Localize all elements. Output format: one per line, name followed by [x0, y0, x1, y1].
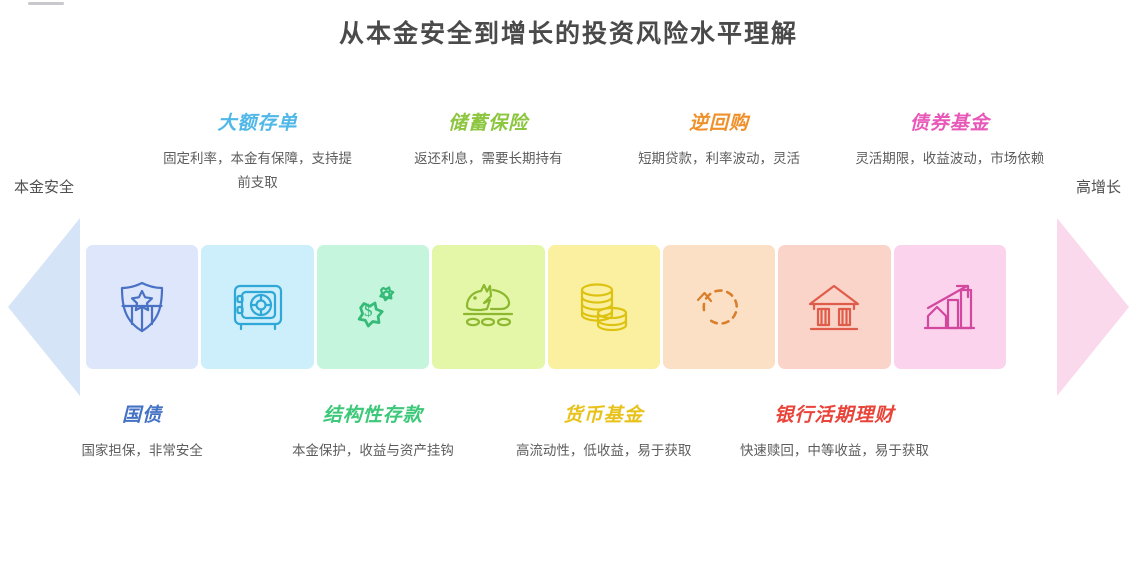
- callout-description: 快速赎回，中等收益，易于获取: [734, 439, 934, 463]
- growth-chart-icon: [919, 276, 981, 338]
- tile-growth-chart[interactable]: [894, 245, 1006, 369]
- callout-title: 逆回购: [619, 108, 819, 135]
- callout-description: 返还利息，需要长期持有: [388, 147, 588, 171]
- callout-top: 大额存单固定利率，本金有保障，支持提前支取: [158, 108, 358, 194]
- tile-bank-building[interactable]: [778, 245, 890, 369]
- callout-description: 国家担保，非常安全: [42, 439, 242, 463]
- callout-bottom: 结构性存款本金保护，收益与资产挂钩: [273, 400, 473, 463]
- callout-description: 固定利率，本金有保障，支持提前支取: [158, 147, 358, 194]
- bank-building-icon: [803, 276, 865, 338]
- callout-title: 结构性存款: [273, 400, 473, 427]
- tile-safe-vault[interactable]: [201, 245, 313, 369]
- callout-description: 灵活期限，收益波动，市场依赖: [850, 147, 1050, 171]
- arrow-head-left-icon: [8, 218, 80, 396]
- callout-top: 债券基金灵活期限，收益波动，市场依赖: [850, 108, 1050, 171]
- tile-shield-star[interactable]: [86, 245, 198, 369]
- broken-piggy-bank-icon: [457, 276, 519, 338]
- callout-title: 银行活期理财: [734, 400, 934, 427]
- dashed-refresh-arrow-icon: [688, 276, 750, 338]
- callout-title: 货币基金: [504, 400, 704, 427]
- callout-top: 储蓄保险返还利息，需要长期持有: [388, 108, 588, 171]
- tile-dashed-refresh-arrow[interactable]: [663, 245, 775, 369]
- shield-star-icon: [111, 276, 173, 338]
- scroll-artifact: [28, 2, 64, 5]
- coin-stack-icon: [573, 276, 635, 338]
- callout-bottom: 货币基金高流动性，低收益，易于获取: [504, 400, 704, 463]
- tile-row: $: [86, 245, 1006, 369]
- callout-bottom: 银行活期理财快速赎回，中等收益，易于获取: [734, 400, 934, 463]
- callout-title: 国债: [42, 400, 242, 427]
- callout-description: 本金保护，收益与资产挂钩: [273, 439, 473, 463]
- safe-vault-icon: [227, 276, 289, 338]
- risk-spectrum: $: [0, 218, 1137, 396]
- tile-gears-dollar[interactable]: $: [317, 245, 429, 369]
- axis-left-label: 本金安全: [14, 176, 74, 197]
- callout-description: 高流动性，低收益，易于获取: [504, 439, 704, 463]
- callout-title: 大额存单: [158, 108, 358, 135]
- arrow-head-right-icon: [1057, 218, 1129, 396]
- svg-text:$: $: [364, 301, 373, 320]
- page-title: 从本金安全到增长的投资风险水平理解: [0, 14, 1137, 50]
- callout-top: 逆回购短期贷款，利率波动，灵活: [619, 108, 819, 171]
- callout-title: 储蓄保险: [388, 108, 588, 135]
- callout-title: 债券基金: [850, 108, 1050, 135]
- tile-broken-piggy-bank[interactable]: [432, 245, 544, 369]
- callout-description: 短期贷款，利率波动，灵活: [619, 147, 819, 171]
- gears-dollar-icon: $: [342, 276, 404, 338]
- axis-right-label: 高增长: [1076, 176, 1121, 197]
- callout-bottom: 国债国家担保，非常安全: [42, 400, 242, 463]
- tile-coin-stack[interactable]: [548, 245, 660, 369]
